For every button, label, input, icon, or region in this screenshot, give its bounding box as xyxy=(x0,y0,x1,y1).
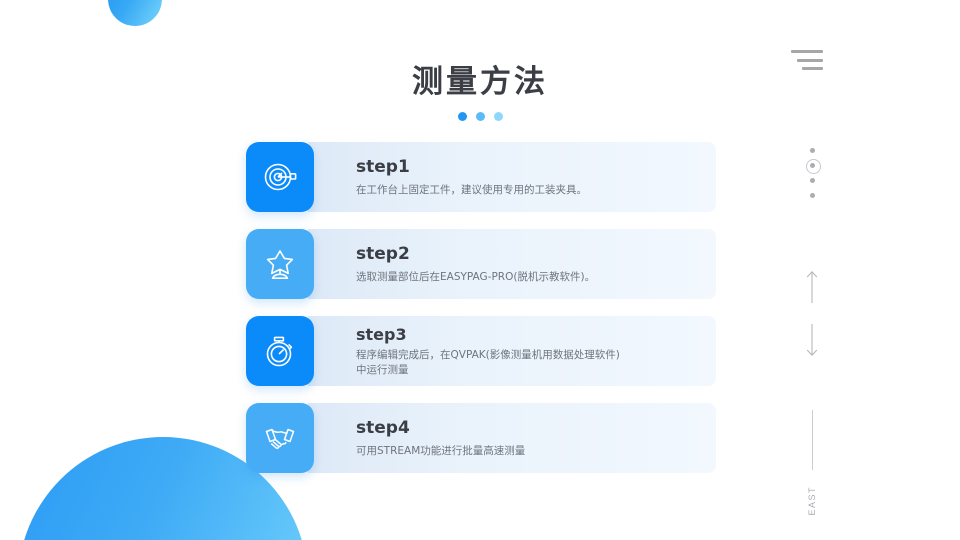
title-dot-1 xyxy=(458,112,467,121)
pager-dots[interactable] xyxy=(810,148,815,198)
pager-dot-3[interactable] xyxy=(810,178,815,183)
step-desc: 选取测量部位后在EASYPAG-PRO(脱机示教软件)。 xyxy=(356,270,716,285)
step-desc: 可用STREAM功能进行批量高速测量 xyxy=(356,444,716,459)
title-dot-row xyxy=(0,112,960,121)
step-desc-line: 在工作台上固定工件，建议使用专用的工装夹具。 xyxy=(356,183,716,198)
decorative-circle-top xyxy=(108,0,162,26)
title-dot-3 xyxy=(494,112,503,121)
step-title: step1 xyxy=(356,156,716,178)
handshake-icon xyxy=(246,403,314,473)
stopwatch-icon xyxy=(246,316,314,386)
step-item[interactable]: step2 选取测量部位后在EASYPAG-PRO(脱机示教软件)。 xyxy=(246,229,716,299)
rail-vertical-label: EAST xyxy=(807,486,817,516)
title-dot-2 xyxy=(476,112,485,121)
step-item[interactable]: step3 程序编辑完成后，在QVPAK(影像测量机用数据处理软件) 中运行测量 xyxy=(246,316,716,386)
step-desc-line: 选取测量部位后在EASYPAG-PRO(脱机示教软件)。 xyxy=(356,270,716,285)
step-title: step3 xyxy=(356,324,716,346)
step-desc-line: 可用STREAM功能进行批量高速测量 xyxy=(356,444,716,459)
rail-divider-line xyxy=(812,410,813,470)
step-body: step3 程序编辑完成后，在QVPAK(影像测量机用数据处理软件) 中运行测量 xyxy=(308,316,716,386)
step-desc-line: 程序编辑完成后，在QVPAK(影像测量机用数据处理软件) xyxy=(356,348,716,363)
slide-canvas: 测量方法 step1 xyxy=(0,0,960,540)
star-trophy-icon xyxy=(246,229,314,299)
hamburger-menu-icon[interactable] xyxy=(783,48,823,72)
step-item[interactable]: step4 可用STREAM功能进行批量高速测量 xyxy=(246,403,716,473)
arrow-up-icon[interactable] xyxy=(805,270,819,309)
step-body: step2 选取测量部位后在EASYPAG-PRO(脱机示教软件)。 xyxy=(308,229,716,299)
menu-line-1 xyxy=(791,50,823,53)
step-item[interactable]: step1 在工作台上固定工件，建议使用专用的工装夹具。 xyxy=(246,142,716,212)
pager-dot-2[interactable] xyxy=(810,163,815,168)
menu-line-3 xyxy=(802,67,823,70)
step-desc-line: 中运行测量 xyxy=(356,363,716,378)
pager-dot-4[interactable] xyxy=(810,193,815,198)
menu-line-2 xyxy=(797,59,823,62)
step-title: step4 xyxy=(356,417,716,439)
arrow-nav-group xyxy=(805,270,819,362)
arrow-down-icon[interactable] xyxy=(805,323,819,362)
step-list: step1 在工作台上固定工件，建议使用专用的工装夹具。 step2 选取测量部… xyxy=(246,142,716,490)
step-desc: 在工作台上固定工件，建议使用专用的工装夹具。 xyxy=(356,183,716,198)
pager-dot-1[interactable] xyxy=(810,148,815,153)
target-icon xyxy=(246,142,314,212)
right-rail: EAST xyxy=(804,148,820,516)
step-body: step4 可用STREAM功能进行批量高速测量 xyxy=(308,403,716,473)
step-title: step2 xyxy=(356,243,716,265)
step-body: step1 在工作台上固定工件，建议使用专用的工装夹具。 xyxy=(308,142,716,212)
step-desc: 程序编辑完成后，在QVPAK(影像测量机用数据处理软件) 中运行测量 xyxy=(356,348,716,378)
